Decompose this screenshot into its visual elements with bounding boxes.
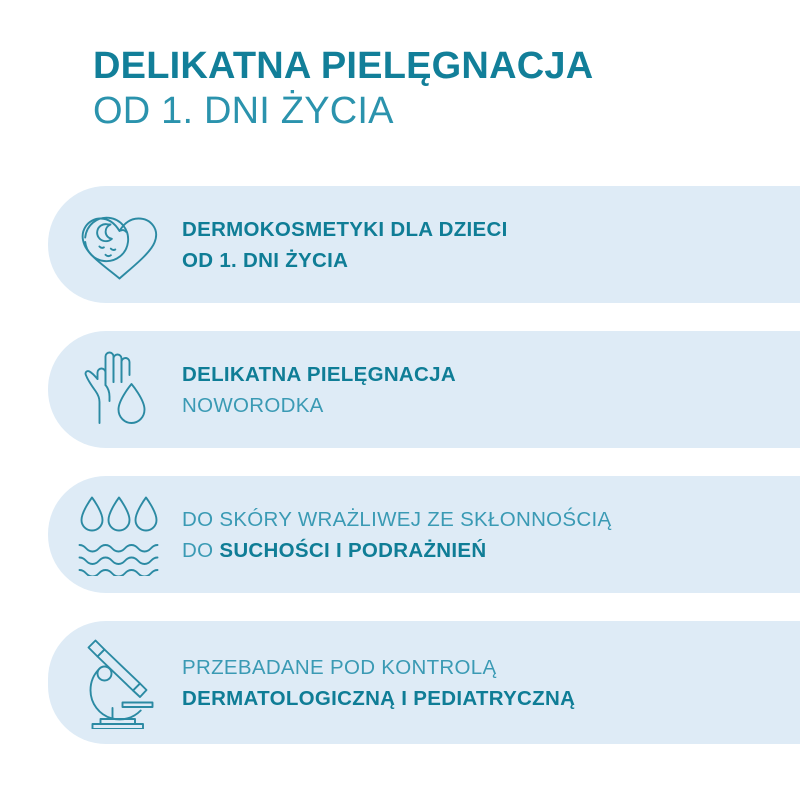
feature-card-dermatologically-tested: PRZEBADANE POD KONTROLĄ DERMATOLOGICZNĄ … — [48, 621, 800, 744]
feature-card-line-1: DELIKATNA PIELĘGNACJA — [182, 359, 456, 390]
text-segment: DO — [182, 539, 219, 562]
feature-card-text: DO SKÓRY WRAŻLIWEJ ZE SKŁONNOŚCIĄ DO SUC… — [182, 504, 611, 566]
text-segment: DERMOKOSMETYKI DLA DZIECI — [182, 218, 508, 241]
feature-card-sensitive-skin: DO SKÓRY WRAŻLIWEJ ZE SKŁONNOŚCIĄ DO SUC… — [48, 476, 800, 593]
feature-card-line-2: OD 1. DNI ŻYCIA — [182, 245, 508, 276]
feature-card-gentle-care: DELIKATNA PIELĘGNACJA NOWORODKA — [48, 331, 800, 448]
text-segment: OD 1. DNI ŻYCIA — [182, 249, 348, 272]
text-segment: PRZEBADANE POD KONTROLĄ — [182, 656, 496, 679]
microscope-icon — [48, 637, 182, 729]
feature-card-line-1: DERMOKOSMETYKI DLA DZIECI — [182, 214, 508, 245]
text-segment: DELIKATNA PIELĘGNACJA — [182, 363, 456, 386]
feature-card-list: DERMOKOSMETYKI DLA DZIECI OD 1. DNI ŻYCI… — [0, 186, 800, 744]
feature-card-line-2: NOWORODKA — [182, 390, 456, 421]
page-title: DELIKATNA PIELĘGNACJA OD 1. DNI ŻYCIA — [93, 44, 733, 134]
heart-with-baby-icon — [48, 207, 182, 283]
feature-card-text: DERMOKOSMETYKI DLA DZIECI OD 1. DNI ŻYCI… — [182, 214, 508, 276]
feature-card-text: DELIKATNA PIELĘGNACJA NOWORODKA — [182, 359, 456, 421]
text-segment: DO SKÓRY WRAŻLIWEJ ZE SKŁONNOŚCIĄ — [182, 508, 611, 531]
page-title-line-2: OD 1. DNI ŻYCIA — [93, 88, 733, 134]
page-title-line-1: DELIKATNA PIELĘGNACJA — [93, 44, 733, 88]
feature-card-line-1: DO SKÓRY WRAŻLIWEJ ZE SKŁONNOŚCIĄ — [182, 504, 611, 535]
text-segment: DERMATOLOGICZNĄ I PEDIATRYCZNĄ — [182, 687, 575, 710]
feature-card-line-2: DERMATOLOGICZNĄ I PEDIATRYCZNĄ — [182, 683, 575, 714]
text-segment: NOWORODKA — [182, 394, 324, 417]
hand-with-droplet-icon — [48, 349, 182, 431]
feature-card-line-1: PRZEBADANE POD KONTROLĄ — [182, 652, 575, 683]
feature-card-dermocosmetics: DERMOKOSMETYKI DLA DZIECI OD 1. DNI ŻYCI… — [48, 186, 800, 303]
feature-card-text: PRZEBADANE POD KONTROLĄ DERMATOLOGICZNĄ … — [182, 652, 575, 714]
feature-card-line-2: DO SUCHOŚCI I PODRAŻNIEŃ — [182, 535, 611, 566]
droplets-over-waves-icon — [48, 494, 182, 576]
text-segment: SUCHOŚCI I PODRAŻNIEŃ — [219, 539, 486, 562]
